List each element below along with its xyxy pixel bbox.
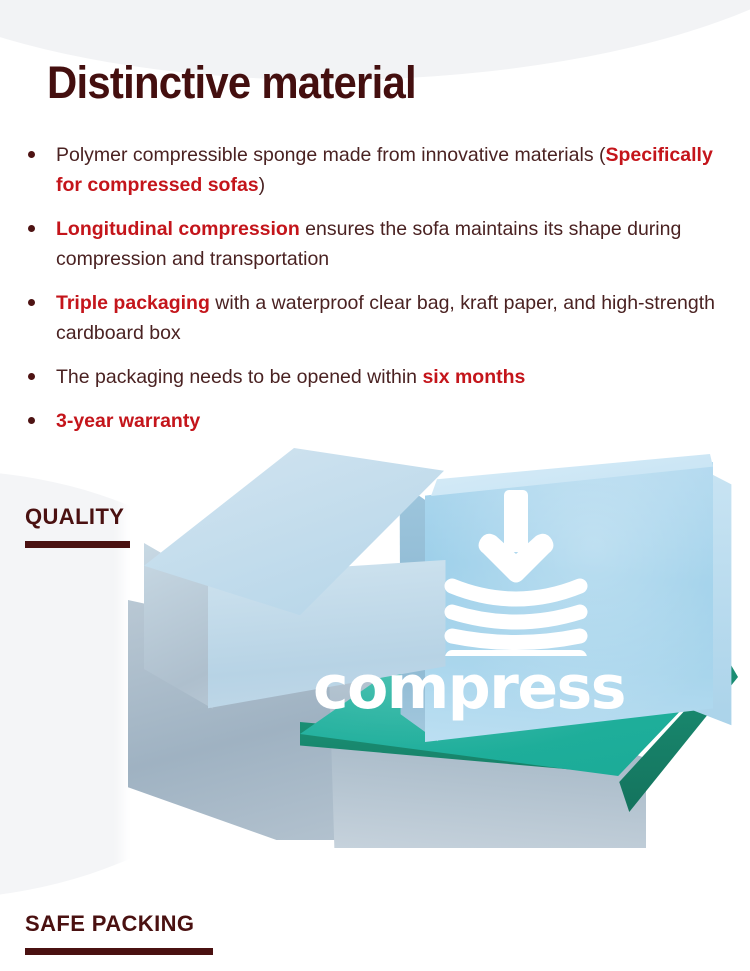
section-label-safe-packing: SAFE PACKING — [25, 911, 194, 937]
list-item-segment: ) — [259, 174, 266, 196]
feature-bullet-list: Polymer compressible sponge made from in… — [22, 140, 728, 450]
product-image-foam-sofa: compress — [128, 448, 750, 878]
bullet-dot-icon — [28, 417, 35, 424]
compress-caption: compress — [313, 653, 625, 723]
promo-page: Distinctive material Polymer compressibl… — [0, 0, 750, 971]
list-item-segment: Polymer compressible sponge made from in… — [56, 144, 605, 166]
list-item-text: 3-year warranty — [56, 406, 728, 436]
compress-arrow-icon — [436, 486, 596, 656]
section-rule-quality — [25, 541, 130, 548]
list-item: 3-year warranty — [22, 406, 728, 436]
bullet-dot-icon — [28, 151, 35, 158]
list-item-text: Polymer compressible sponge made from in… — [56, 140, 728, 200]
list-item: Triple packaging with a waterproof clear… — [22, 288, 728, 348]
list-item-text: Longitudinal compression ensures the sof… — [56, 214, 728, 274]
section-rule-safe-packing — [25, 948, 213, 955]
list-item-emphasis: Triple packaging — [56, 292, 210, 314]
list-item: Longitudinal compression ensures the sof… — [22, 214, 728, 274]
bullet-dot-icon — [28, 373, 35, 380]
list-item-segment: The packaging needs to be opened within — [56, 366, 422, 388]
list-item-emphasis: 3-year warranty — [56, 410, 200, 432]
list-item: Polymer compressible sponge made from in… — [22, 140, 728, 200]
page-title: Distinctive material — [47, 57, 416, 109]
bullet-dot-icon — [28, 225, 35, 232]
list-item-emphasis: Longitudinal compression — [56, 218, 300, 240]
list-item-text: The packaging needs to be opened within … — [56, 362, 728, 392]
list-item: The packaging needs to be opened within … — [22, 362, 728, 392]
list-item-emphasis: six months — [422, 366, 525, 388]
bullet-dot-icon — [28, 299, 35, 306]
list-item-text: Triple packaging with a waterproof clear… — [56, 288, 728, 348]
section-label-quality: QUALITY — [25, 504, 124, 530]
